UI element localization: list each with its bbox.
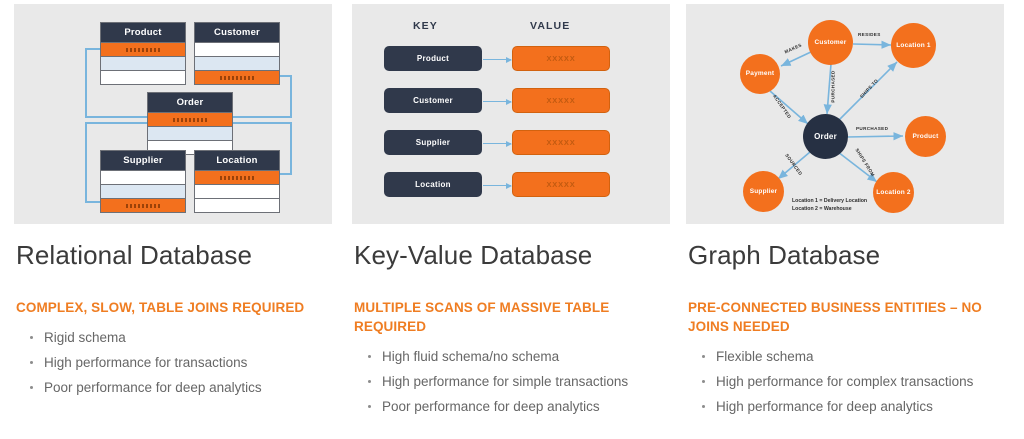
connector-customer-order-bottom xyxy=(232,116,292,118)
entity-table-title: Customer xyxy=(195,23,279,42)
column-relational-database: Product Customer Order Suppli xyxy=(14,0,332,439)
relational-diagram-panel: Product Customer Order Suppli xyxy=(14,4,332,224)
graph-node-location2: Location 2 xyxy=(873,172,914,213)
graph-node-label: Product xyxy=(913,133,939,141)
entity-table-customer: Customer xyxy=(194,22,280,85)
feature-list: Rigid schema High performance for transa… xyxy=(28,325,334,400)
list-item: Poor performance for deep analytics xyxy=(366,394,672,419)
column-subhead: COMPLEX, SLOW, TABLE JOINS REQUIRED xyxy=(16,298,326,317)
graph-node-label: Location 2 xyxy=(876,189,911,197)
legend-line: Location 2 = Warehouse xyxy=(792,206,867,214)
column-subhead: MULTIPLE SCANS OF MASSIVE TABLE REQUIRED xyxy=(354,298,664,336)
value-box-product: XXXXX xyxy=(512,46,610,71)
table-row xyxy=(195,184,279,198)
connector-product-order-vertical xyxy=(85,48,87,117)
entity-table-product: Product xyxy=(100,22,186,85)
page-title: Relational Database xyxy=(16,240,252,271)
table-row xyxy=(101,70,185,84)
page-title: Key-Value Database xyxy=(354,240,592,271)
graph-legend: Location 1 = Delivery Location Location … xyxy=(792,198,867,213)
graph-node-order: Order xyxy=(803,114,848,159)
graph-node-location1: Location 1 xyxy=(891,23,936,68)
connector-customer-order-top xyxy=(278,75,292,77)
table-row xyxy=(101,42,185,56)
connector-supplier-order-top xyxy=(85,122,149,124)
entity-table-order: Order xyxy=(147,92,233,155)
list-item: High performance for complex transaction… xyxy=(700,369,1006,394)
column-graph-database: Payment Customer Location 1 Order Produc… xyxy=(686,0,1004,439)
connector-product-order-bottom xyxy=(85,116,149,118)
table-row xyxy=(195,70,279,84)
column-subhead: PRE-CONNECTED BUSINESS ENTITIES – NO JOI… xyxy=(688,298,998,336)
table-row xyxy=(101,198,185,212)
graph-node-label: Customer xyxy=(815,39,847,47)
table-row xyxy=(195,170,279,184)
table-row xyxy=(148,126,232,140)
table-row xyxy=(195,56,279,70)
edge-label-purchased-product: PURCHASED xyxy=(856,126,888,131)
entity-table-title: Supplier xyxy=(101,151,185,170)
entity-table-title: Product xyxy=(101,23,185,42)
graph-node-product: Product xyxy=(905,116,946,157)
key-value-diagram-panel: KEY VALUE Product XXXXX Customer XXXXX S… xyxy=(352,4,670,224)
value-box-supplier: XXXXX xyxy=(512,130,610,155)
list-item: Poor performance for deep analytics xyxy=(28,375,334,400)
list-item: High fluid schema/no schema xyxy=(366,344,672,369)
table-row xyxy=(101,56,185,70)
column-key-value-database: KEY VALUE Product XXXXX Customer XXXXX S… xyxy=(352,0,670,439)
value-box-customer: XXXXX xyxy=(512,88,610,113)
entity-table-location: Location xyxy=(194,150,280,213)
table-row xyxy=(101,170,185,184)
graph-node-supplier: Supplier xyxy=(743,171,784,212)
key-value-arrow xyxy=(483,185,511,186)
entity-table-title: Location xyxy=(195,151,279,170)
graph-node-payment: Payment xyxy=(740,54,780,94)
legend-line: Location 1 = Delivery Location xyxy=(792,198,867,206)
key-box-location: Location xyxy=(384,172,482,197)
key-value-arrow xyxy=(483,59,511,60)
connector-location-order-vertical xyxy=(290,122,292,174)
key-box-product: Product xyxy=(384,46,482,71)
list-item: Flexible schema xyxy=(700,344,1006,369)
edge-label-resides: RESIDES xyxy=(858,32,881,37)
value-column-header: VALUE xyxy=(530,20,570,32)
graph-node-label: Location 1 xyxy=(896,42,931,50)
graph-canvas: Payment Customer Location 1 Order Produc… xyxy=(686,4,1004,224)
graph-diagram-panel: Payment Customer Location 1 Order Produc… xyxy=(686,4,1004,224)
key-value-arrow xyxy=(483,143,511,144)
feature-list: Flexible schema High performance for com… xyxy=(700,344,1006,419)
entity-table-supplier: Supplier xyxy=(100,150,186,213)
table-row xyxy=(195,198,279,212)
page-title: Graph Database xyxy=(688,240,880,271)
key-box-supplier: Supplier xyxy=(384,130,482,155)
list-item: Rigid schema xyxy=(28,325,334,350)
key-box-customer: Customer xyxy=(384,88,482,113)
graph-node-customer: Customer xyxy=(808,20,853,65)
value-box-location: XXXXX xyxy=(512,172,610,197)
table-row xyxy=(101,184,185,198)
table-row xyxy=(148,112,232,126)
list-item: High performance for simple transactions xyxy=(366,369,672,394)
graph-node-label: Order xyxy=(814,133,837,141)
graph-node-label: Payment xyxy=(746,70,775,78)
entity-table-title: Order xyxy=(148,93,232,112)
list-item: High performance for transactions xyxy=(28,350,334,375)
table-row xyxy=(195,42,279,56)
graph-node-label: Supplier xyxy=(750,188,778,196)
connector-location-order-top xyxy=(232,122,292,124)
connector-supplier-order-vertical xyxy=(85,122,87,202)
key-column-header: KEY xyxy=(413,20,438,32)
comparison-board: Product Customer Order Suppli xyxy=(0,0,1024,439)
list-item: High performance for deep analytics xyxy=(700,394,1006,419)
feature-list: High fluid schema/no schema High perform… xyxy=(366,344,672,419)
edge-label-purchased-customer: PURCHASED xyxy=(831,70,836,102)
connector-customer-order-vertical xyxy=(290,75,292,117)
key-value-arrow xyxy=(483,101,511,102)
